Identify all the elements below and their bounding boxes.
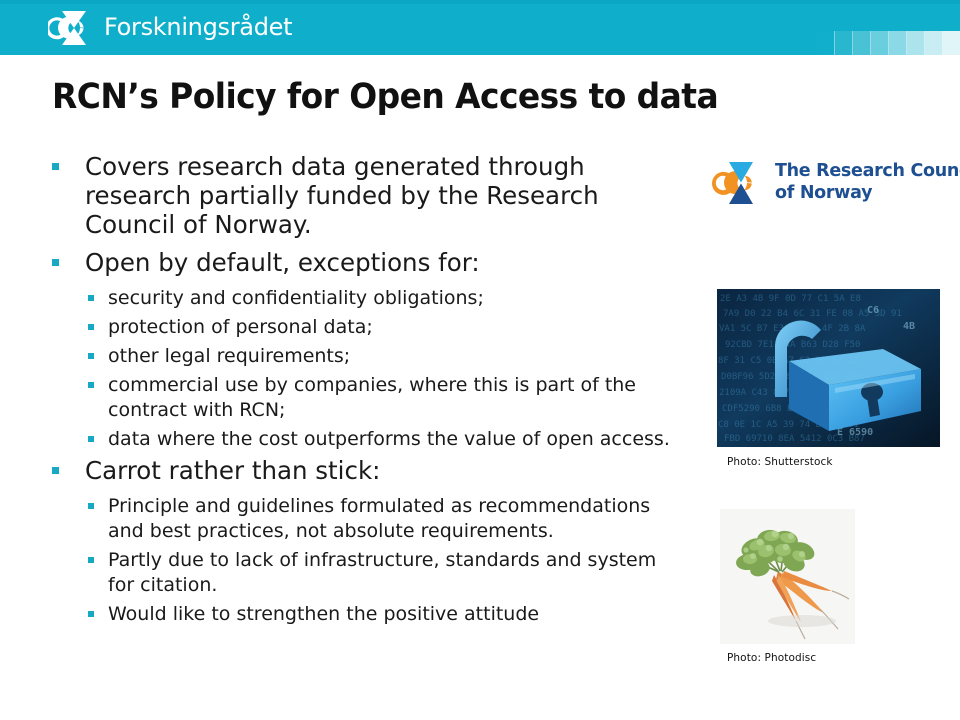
rcn-logo-line1: The Research Council — [775, 160, 960, 182]
bullet-text: other legal requirements; — [108, 345, 350, 367]
header-bar: Forskningsrådet — [0, 0, 960, 55]
bullet-text: Partly due to lack of infrastructure, st… — [108, 549, 656, 596]
bullet-list-level1: Covers research data generated through r… — [46, 152, 686, 277]
bullet-list-level2-carrot: Principle and guidelines formulated as r… — [46, 494, 686, 627]
bullet-list-level2-exceptions: security and confidentiality obligations… — [46, 286, 686, 452]
bullet-square-icon — [88, 503, 94, 509]
accent-block — [817, 31, 835, 55]
bullet-square-icon — [52, 163, 59, 170]
bullet-item: Open by default, exceptions for: — [46, 248, 686, 277]
bullet-text: security and confidentiality obligations… — [108, 287, 484, 309]
bullet-square-icon — [88, 324, 94, 330]
rcn-logo-text: The Research Council of Norway — [775, 160, 960, 204]
bullet-square-icon — [88, 436, 94, 442]
bullet-text: protection of personal data; — [108, 316, 373, 338]
bullet-item: security and confidentiality obligations… — [46, 286, 686, 311]
padlock-photo-caption: Photo: Shutterstock — [727, 456, 833, 468]
bullet-text: Would like to strengthen the positive at… — [108, 603, 539, 625]
bullet-item: commercial use by companies, where this … — [46, 373, 686, 423]
bullet-square-icon — [88, 611, 94, 617]
accent-block — [835, 31, 853, 55]
bullet-item: Partly due to lack of infrastructure, st… — [46, 548, 686, 598]
accent-block — [907, 31, 925, 55]
svg-text:C6: C6 — [867, 305, 879, 316]
accent-block — [943, 31, 960, 55]
forskningsradet-bowtie-logo — [48, 9, 100, 47]
accent-block — [871, 31, 889, 55]
bullet-square-icon — [52, 467, 59, 474]
svg-text:4B: 4B — [903, 321, 915, 332]
bullet-item: protection of personal data; — [46, 315, 686, 340]
content-column: Covers research data generated through r… — [46, 152, 686, 631]
open-padlock-photo: 2E A3 4B 9F 0D 77 C1 5A E8 7A9 D0 22 B4 … — [717, 289, 940, 447]
bullet-item: Covers research data generated through r… — [46, 152, 686, 239]
bullet-text: Open by default, exceptions for: — [85, 248, 480, 277]
page-title: RCN’s Policy for Open Access to data — [52, 76, 795, 118]
bullet-text: commercial use by companies, where this … — [108, 374, 636, 421]
bullet-square-icon — [88, 353, 94, 359]
carrots-photo — [720, 509, 855, 644]
bullet-text: Carrot rather than stick: — [85, 456, 380, 485]
bullet-item: other legal requirements; — [46, 344, 686, 369]
bullet-square-icon — [88, 382, 94, 388]
rcn-logo-line2: of Norway — [775, 182, 960, 204]
header-accent-blocks — [817, 31, 960, 55]
svg-text:E 6590: E 6590 — [837, 427, 873, 438]
bullet-item: Would like to strengthen the positive at… — [46, 602, 686, 627]
accent-block — [889, 31, 907, 55]
bullet-list-level1-carrot: Carrot rather than stick: — [46, 456, 686, 485]
svg-text:2E A3 4B 9F 0D 77 C1 5A: 2E A3 4B 9F 0D 77 C1 5A E8 — [720, 294, 861, 304]
accent-block — [853, 31, 871, 55]
carrots-photo-caption: Photo: Photodisc — [727, 652, 816, 664]
bullet-item: Principle and guidelines formulated as r… — [46, 494, 686, 544]
bullet-square-icon — [88, 295, 94, 301]
bullet-item: data where the cost outperforms the valu… — [46, 427, 686, 452]
bullet-text: Covers research data generated through r… — [85, 152, 599, 239]
bullet-item: Carrot rather than stick: — [46, 456, 686, 485]
bullet-square-icon — [52, 259, 59, 266]
bullet-text: Principle and guidelines formulated as r… — [108, 495, 650, 542]
header-top-accent — [0, 0, 960, 4]
bullet-text: data where the cost outperforms the valu… — [108, 428, 670, 450]
brand-wordmark: Forskningsrådet — [104, 13, 292, 41]
accent-block — [925, 31, 943, 55]
rcn-logo-mark-icon — [712, 157, 770, 209]
bullet-square-icon — [88, 557, 94, 563]
research-council-of-norway-logo: The Research Council of Norway — [712, 157, 948, 213]
svg-text:92CBD 7E1 04A B63 D28 F50: 92CBD 7E1 04A B63 D28 F50 — [725, 340, 860, 350]
